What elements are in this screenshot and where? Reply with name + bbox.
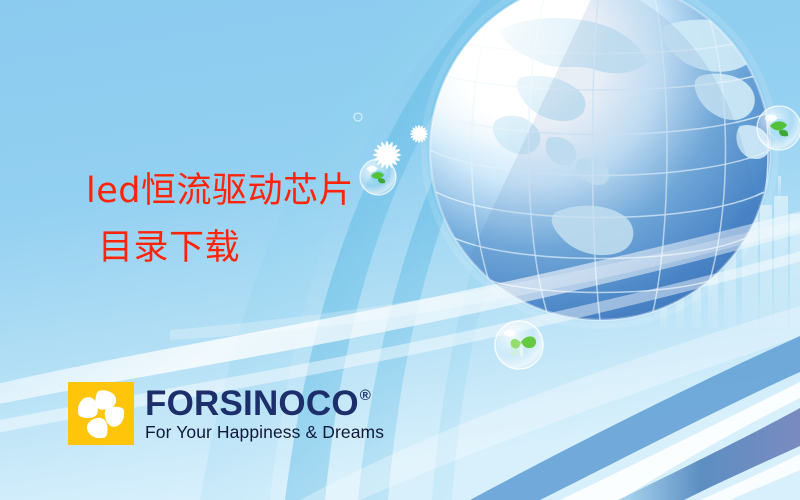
- headline-text: led恒流驱动芯片 目录下载: [86, 163, 354, 276]
- decor-flower-icon: [410, 125, 428, 143]
- globe-bubble-icon: [360, 159, 396, 195]
- plant-bubble-icon: [495, 321, 543, 369]
- registered-trademark-icon: ®: [360, 388, 371, 403]
- logo-pinwheel-icon: [68, 382, 134, 445]
- globe-bubble-icon: [757, 106, 800, 150]
- logo-wordmark-text: FORSINOCO: [145, 386, 359, 421]
- company-logo: FORSINOCO ® For Your Happiness & Dreams: [68, 382, 384, 445]
- slide-canvas: led恒流驱动芯片 目录下载 FORSINOCO ® For Your Happ…: [0, 0, 800, 500]
- logo-tagline: For Your Happiness & Dreams: [145, 424, 384, 442]
- logo-wordmark: FORSINOCO ®: [145, 386, 384, 421]
- headline-line-1: led恒流驱动芯片: [86, 171, 354, 211]
- logo-text-block: FORSINOCO ® For Your Happiness & Dreams: [145, 386, 384, 442]
- headline-line-2: 目录下载: [86, 220, 354, 277]
